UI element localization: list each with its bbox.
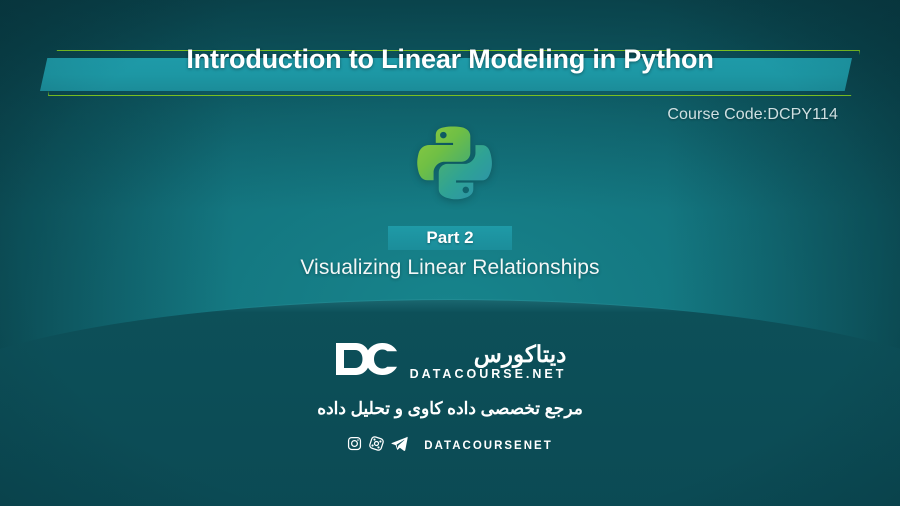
telegram-icon[interactable] [391,436,408,456]
slide-canvas: Introduction to Linear Modeling in Pytho… [0,0,900,506]
brand-block: دیتاکورس DATACOURSE.NET مرجع تخصصی داده … [0,341,900,456]
social-handle-label: DATACOURSENET [424,440,552,452]
brand-text-stack: دیتاکورس DATACOURSE.NET [410,343,567,381]
brand-logo-row: دیتاکورس DATACOURSE.NET [334,341,567,382]
part-badge-label: Part 2 [388,226,512,250]
instagram-icon[interactable] [347,436,362,456]
datacourse-dc-monogram-icon [334,341,400,382]
social-row: DATACOURSENET [347,436,552,456]
python-logo-icon [413,122,493,202]
aparat-icon[interactable] [369,436,384,456]
page-title: Introduction to Linear Modeling in Pytho… [0,46,900,73]
brand-tagline-fa: مرجع تخصصی داده کاوی و تحلیل داده [317,399,583,419]
brand-name-fa: دیتاکورس [474,343,567,366]
brand-name-en: DATACOURSE.NET [410,368,567,381]
course-code-label: Course Code:DCPY114 [667,106,838,124]
slide-subtitle: Visualizing Linear Relationships [0,256,900,280]
